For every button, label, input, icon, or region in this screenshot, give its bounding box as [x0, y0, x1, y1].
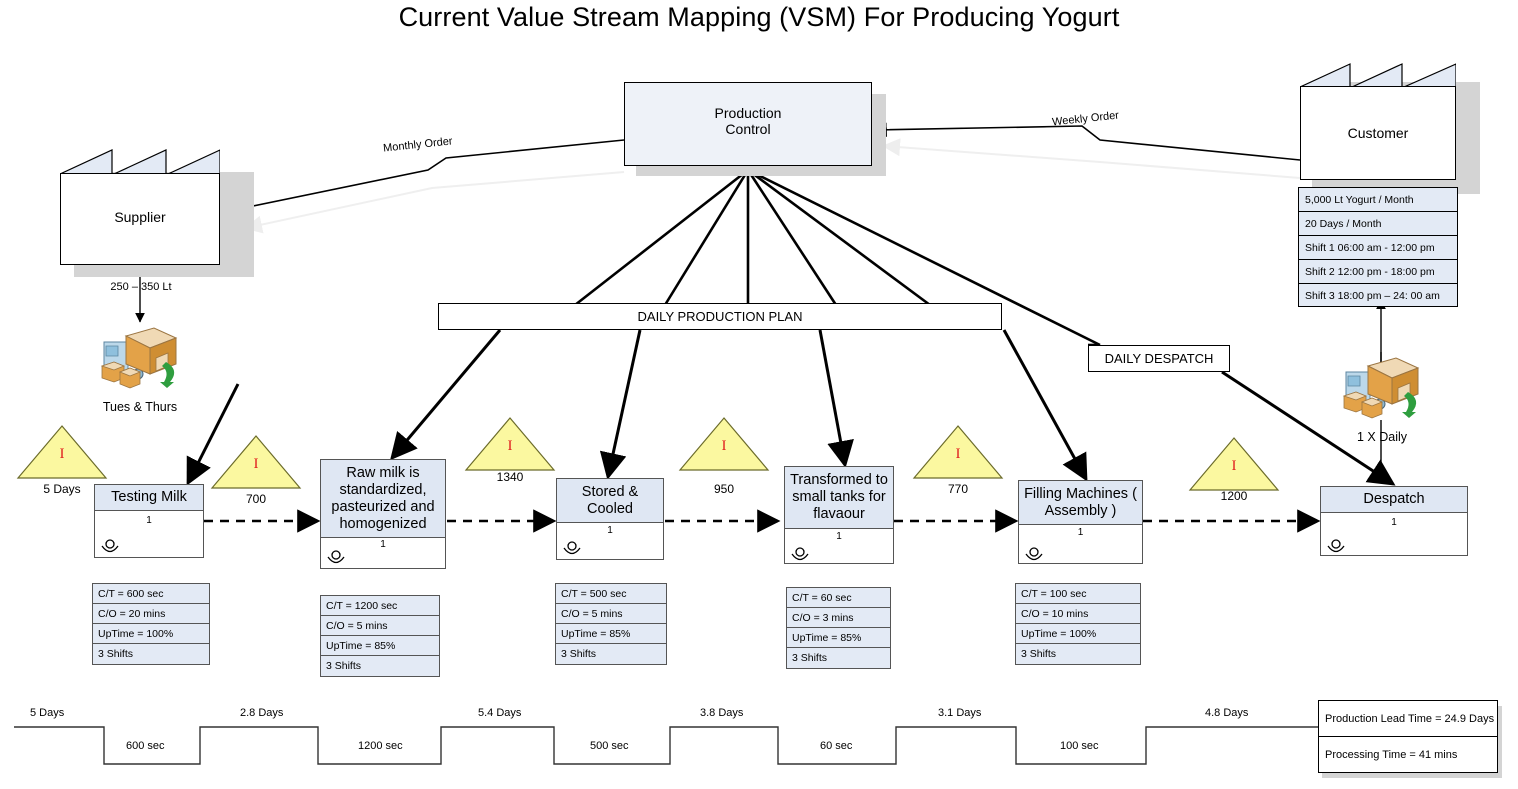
metric-row: C/T = 1200 sec	[321, 596, 439, 616]
process-operator-count: 1	[557, 525, 663, 536]
customer-data-table: 5,000 Lt Yogurt / Month 20 Days / Month …	[1298, 187, 1458, 307]
timeline-wait-label: 4.8 Days	[1205, 707, 1248, 719]
timeline-process-label: 1200 sec	[358, 740, 403, 752]
daily-production-plan-box[interactable]: DAILY PRODUCTION PLAN	[438, 303, 1002, 330]
processing-time: Processing Time = 41 mins	[1319, 737, 1497, 773]
production-control-label-line2: Control	[625, 121, 871, 137]
metric-row: C/T = 60 sec	[787, 588, 890, 608]
operator-icon	[561, 541, 583, 557]
svg-text:I: I	[722, 438, 727, 454]
operator-icon	[1325, 539, 1347, 555]
svg-text:I: I	[956, 446, 961, 462]
page-title: Current Value Stream Mapping (VSM) For P…	[0, 2, 1518, 33]
customer-label: Customer	[1301, 125, 1455, 141]
inbound-frequency-label: Tues & Thurs	[90, 400, 190, 414]
monthly-order-label: Monthly Order	[383, 135, 454, 154]
svg-text:I: I	[508, 438, 513, 454]
daily-production-plan-label: DAILY PRODUCTION PLAN	[638, 309, 803, 324]
process-name: Transformed to small tanks for flavaour	[785, 467, 893, 529]
data-box-filling-machines: C/T = 100 sec C/O = 10 mins UpTime = 100…	[1015, 583, 1141, 665]
inventory-label: 1340	[464, 470, 556, 484]
production-lead-time: Production Lead Time = 24.9 Days	[1319, 701, 1497, 737]
data-box-transformed-tanks: C/T = 60 sec C/O = 3 mins UpTime = 85% 3…	[786, 587, 891, 669]
inventory-label: 700	[210, 492, 302, 506]
svg-text:I: I	[1232, 458, 1237, 474]
metric-row: UpTime = 85%	[787, 628, 890, 648]
timeline-process-label: 500 sec	[590, 740, 629, 752]
inventory-triangle-icon[interactable]: I	[210, 434, 302, 490]
production-control-box[interactable]: Production Control	[624, 82, 872, 166]
process-operator-count: 1	[785, 531, 893, 542]
metric-row: C/T = 600 sec	[93, 584, 209, 604]
timeline-summary-box: Production Lead Time = 24.9 Days Process…	[1318, 700, 1498, 773]
process-name: Filling Machines ( Assembly )	[1019, 481, 1142, 525]
inventory-label: 770	[912, 482, 1004, 496]
operator-icon	[1023, 547, 1045, 563]
metric-row: UpTime = 100%	[93, 624, 209, 644]
metric-row: UpTime = 85%	[321, 636, 439, 656]
customer-data-row: Shift 1 06:00 am - 12:00 pm	[1299, 236, 1457, 260]
metric-row: 3 Shifts	[1016, 644, 1140, 664]
process-name: Testing Milk	[95, 485, 203, 511]
inventory-label: 1200	[1188, 489, 1280, 503]
timeline-wait-label: 5.4 Days	[478, 707, 521, 719]
supplier-roof-icon	[60, 148, 220, 174]
metric-row: C/T = 100 sec	[1016, 584, 1140, 604]
process-operator-count: 1	[321, 539, 445, 550]
process-box-raw-milk[interactable]: Raw milk is standardized, pasteurized an…	[320, 459, 446, 569]
metric-row: C/O = 5 mins	[321, 616, 439, 636]
process-box-filling-machines[interactable]: Filling Machines ( Assembly ) 1	[1018, 480, 1143, 564]
process-box-testing-milk[interactable]: Testing Milk 1	[94, 484, 204, 558]
customer-box[interactable]: Customer	[1300, 86, 1456, 180]
daily-despatch-box[interactable]: DAILY DESPATCH	[1088, 345, 1230, 372]
inventory-triangle-icon[interactable]: I	[464, 416, 556, 472]
svg-text:I: I	[60, 446, 65, 462]
metric-row: 3 Shifts	[93, 644, 209, 664]
outbound-truck-icon	[1340, 352, 1424, 422]
timeline-process-label: 100 sec	[1060, 740, 1099, 752]
inventory-triangle-icon[interactable]: I	[16, 424, 108, 480]
customer-data-row: 5,000 Lt Yogurt / Month	[1299, 188, 1457, 212]
timeline-process-label: 60 sec	[820, 740, 852, 752]
metric-row: UpTime = 100%	[1016, 624, 1140, 644]
inventory-triangle-icon[interactable]: I	[1188, 436, 1280, 492]
inbound-truck-icon	[98, 322, 182, 392]
operator-icon	[789, 547, 811, 563]
inventory-triangle-icon[interactable]: I	[678, 416, 770, 472]
timeline-process-label: 600 sec	[126, 740, 165, 752]
data-box-testing-milk: C/T = 600 sec C/O = 20 mins UpTime = 100…	[92, 583, 210, 665]
vsm-diagram-canvas: Current Value Stream Mapping (VSM) For P…	[0, 0, 1518, 789]
outbound-frequency-label: 1 X Daily	[1332, 430, 1432, 444]
timeline-wait-label: 5 Days	[30, 707, 64, 719]
process-name: Raw milk is standardized, pasteurized an…	[321, 460, 445, 538]
weekly-order-label: Weekly Order	[1052, 110, 1120, 129]
data-box-raw-milk: C/T = 1200 sec C/O = 5 mins UpTime = 85%…	[320, 595, 440, 677]
process-name: Despatch	[1321, 487, 1467, 513]
process-box-stored-cooled[interactable]: Stored & Cooled 1	[556, 478, 664, 560]
metric-row: C/O = 10 mins	[1016, 604, 1140, 624]
customer-data-row: 20 Days / Month	[1299, 212, 1457, 236]
process-operator-count: 1	[95, 515, 203, 526]
svg-text:I: I	[254, 456, 259, 472]
process-box-despatch[interactable]: Despatch 1	[1320, 486, 1468, 556]
supplier-label: Supplier	[61, 209, 219, 225]
metric-row: UpTime = 85%	[556, 624, 666, 644]
metric-row: C/O = 20 mins	[93, 604, 209, 624]
process-name: Stored & Cooled	[557, 479, 663, 523]
timeline-wait-label: 3.1 Days	[938, 707, 981, 719]
process-operator-count: 1	[1321, 517, 1467, 528]
supplier-quantity-label: 250 – 350 Lt	[100, 281, 182, 293]
metric-row: 3 Shifts	[556, 644, 666, 664]
operator-icon	[99, 539, 121, 555]
production-control-label-line1: Production	[625, 105, 871, 121]
metric-row: 3 Shifts	[787, 648, 890, 668]
metric-row: C/T = 500 sec	[556, 584, 666, 604]
customer-data-row: Shift 2 12:00 pm - 18:00 pm	[1299, 260, 1457, 284]
metric-row: C/O = 5 mins	[556, 604, 666, 624]
operator-icon	[325, 550, 347, 566]
customer-roof-icon	[1300, 62, 1456, 87]
customer-data-row: Shift 3 18:00 pm – 24: 00 am	[1299, 284, 1457, 308]
metric-row: 3 Shifts	[321, 656, 439, 676]
data-box-stored-cooled: C/T = 500 sec C/O = 5 mins UpTime = 85% …	[555, 583, 667, 665]
inventory-triangle-icon[interactable]: I	[912, 424, 1004, 480]
process-box-transformed-tanks[interactable]: Transformed to small tanks for flavaour …	[784, 466, 894, 564]
metric-row: C/O = 3 mins	[787, 608, 890, 628]
daily-despatch-label: DAILY DESPATCH	[1105, 351, 1214, 366]
inventory-label: 950	[678, 482, 770, 496]
supplier-box[interactable]: Supplier	[60, 173, 220, 265]
timeline-wait-label: 2.8 Days	[240, 707, 283, 719]
process-operator-count: 1	[1019, 527, 1142, 538]
timeline-wait-label: 3.8 Days	[700, 707, 743, 719]
